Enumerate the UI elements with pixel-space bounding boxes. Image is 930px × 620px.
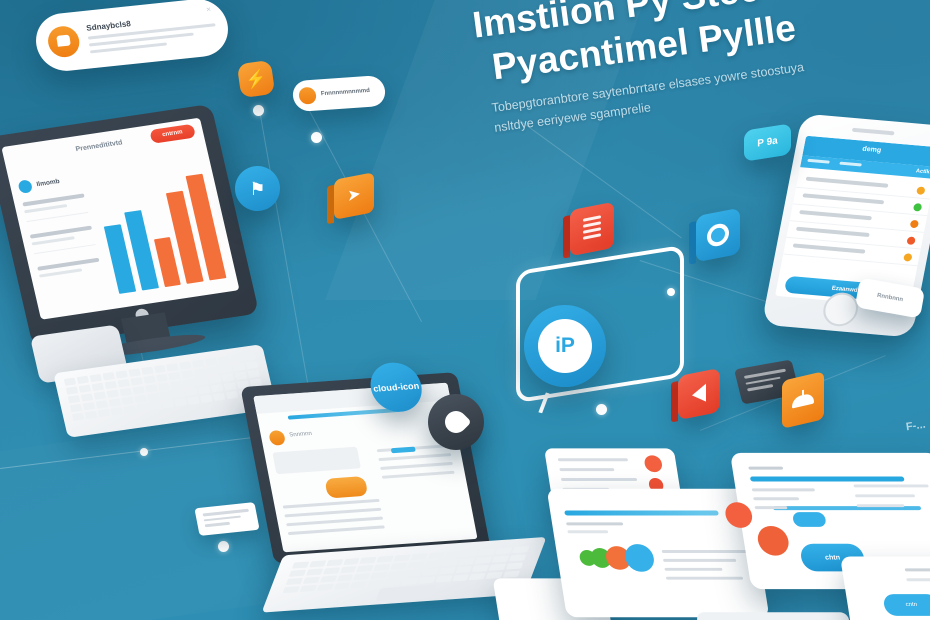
key[interactable] [303, 577, 320, 584]
key[interactable] [85, 411, 97, 419]
text-line [748, 467, 783, 470]
key[interactable] [158, 382, 170, 390]
key[interactable] [478, 548, 495, 555]
list-item-label [806, 177, 889, 188]
chat-icon [46, 25, 82, 59]
dashboard-list [22, 193, 104, 290]
cloud-icon-label: cloud-icon [372, 381, 420, 394]
key[interactable] [374, 564, 391, 571]
key[interactable] [194, 368, 206, 376]
edge-label: F-... [906, 419, 927, 434]
text-lines [752, 488, 819, 515]
content-block [272, 447, 361, 474]
key[interactable] [418, 577, 435, 584]
key[interactable] [136, 404, 148, 412]
key[interactable] [384, 579, 401, 586]
key[interactable] [286, 578, 303, 585]
key[interactable] [509, 554, 526, 561]
list-item-label [793, 243, 865, 253]
key[interactable] [469, 573, 486, 580]
key[interactable] [185, 388, 197, 396]
accent-bar [750, 477, 905, 482]
key[interactable] [66, 386, 78, 394]
list-item[interactable] [37, 258, 101, 278]
key[interactable] [119, 388, 131, 396]
key[interactable] [340, 566, 357, 573]
key[interactable] [160, 391, 172, 399]
key[interactable] [495, 547, 512, 554]
key[interactable] [89, 374, 101, 382]
key[interactable] [404, 570, 421, 577]
toggle-pill[interactable] [792, 512, 827, 527]
notification-chip-label: Fnnnnnmnnmmd [321, 88, 371, 97]
key[interactable] [289, 570, 306, 577]
key[interactable] [145, 384, 157, 392]
key[interactable] [106, 390, 118, 398]
key[interactable] [441, 559, 458, 566]
text-line [566, 522, 623, 525]
key[interactable] [244, 352, 256, 360]
avatar [17, 179, 33, 194]
key[interactable] [117, 379, 129, 387]
status-dot [910, 220, 920, 229]
flag-icon[interactable]: ⚑ [235, 166, 280, 211]
key[interactable] [102, 372, 114, 380]
network-node [311, 132, 322, 143]
key[interactable] [96, 400, 108, 408]
coins-icon [324, 476, 368, 498]
key[interactable] [407, 561, 424, 568]
ip-badge[interactable]: iP [524, 305, 606, 387]
key[interactable] [64, 378, 76, 386]
status-dot [906, 236, 916, 245]
key[interactable] [387, 571, 404, 578]
key[interactable] [173, 389, 185, 397]
key[interactable] [475, 557, 492, 564]
key[interactable] [200, 395, 212, 403]
send-icon[interactable]: ➤ [334, 172, 374, 220]
status-dot [903, 253, 913, 262]
list-item[interactable] [22, 193, 88, 222]
key[interactable] [320, 575, 337, 582]
key[interactable] [246, 361, 258, 369]
key[interactable] [233, 363, 245, 371]
list-item-label [799, 210, 871, 220]
status-dot [756, 526, 791, 556]
key[interactable] [427, 552, 444, 559]
key[interactable] [337, 574, 354, 581]
key[interactable] [79, 385, 91, 393]
key[interactable] [503, 571, 520, 578]
key[interactable] [91, 383, 103, 391]
key[interactable] [175, 398, 187, 406]
key[interactable] [424, 560, 441, 567]
bolt-icon [298, 87, 317, 105]
lamp-icon[interactable] [782, 371, 824, 429]
text-line [906, 578, 930, 581]
key[interactable] [226, 391, 238, 399]
key[interactable] [205, 358, 217, 366]
illustration-canvas: Imstiion Py Stee Pyacntimel Pyllle Tobep… [0, 0, 930, 620]
text-lines [853, 484, 930, 514]
key[interactable] [110, 407, 122, 415]
key[interactable] [77, 376, 89, 384]
key[interactable] [181, 370, 193, 378]
key[interactable] [198, 386, 210, 394]
list-icon[interactable] [570, 202, 614, 257]
status-dot [623, 544, 656, 572]
key[interactable] [343, 558, 360, 565]
key[interactable] [461, 550, 478, 557]
notification-chip[interactable]: Fnnnnnmnnmmd [291, 75, 387, 112]
key[interactable] [130, 377, 142, 385]
monitor-screen: Prennedititvtd cntrnm Ilmomb [1, 118, 239, 320]
notification-card[interactable]: Sdnaybcls8 × [32, 0, 232, 74]
key[interactable] [167, 363, 179, 371]
key[interactable] [93, 391, 105, 399]
cyan-chip[interactable]: P 9a [744, 123, 791, 161]
network-node [140, 448, 148, 456]
dashboard-user-label: Ilmomb [36, 178, 61, 188]
desktop-monitor: Prennedititvtd cntrnm Ilmomb [0, 104, 259, 347]
text-line [905, 568, 930, 571]
key[interactable] [211, 384, 223, 392]
status-dot-group [578, 544, 651, 572]
key[interactable] [489, 564, 506, 571]
subheader-right-label: Actlk [915, 168, 930, 175]
status-dot [913, 203, 923, 212]
laptop-label: Snnmnn [289, 431, 313, 438]
key[interactable] [438, 567, 455, 574]
key[interactable] [231, 354, 243, 362]
key[interactable] [81, 393, 93, 401]
key[interactable] [108, 398, 120, 406]
key[interactable] [213, 393, 225, 401]
key[interactable] [179, 361, 191, 369]
key[interactable] [183, 379, 195, 387]
key[interactable] [156, 374, 168, 382]
key[interactable] [162, 400, 174, 408]
key[interactable] [411, 553, 428, 560]
key[interactable] [196, 377, 208, 385]
key[interactable] [353, 573, 370, 580]
key[interactable] [207, 366, 219, 374]
close-icon[interactable]: × [206, 5, 212, 14]
network-node [596, 404, 607, 415]
key[interactable] [421, 568, 438, 575]
iso-card-far[interactable]: cntn [840, 557, 930, 620]
dashboard-cta-button[interactable]: cntrnm [149, 124, 196, 144]
bar-3 [154, 237, 182, 287]
key[interactable] [72, 413, 84, 421]
list-item-label [796, 227, 869, 237]
key[interactable] [455, 566, 472, 573]
key[interactable] [326, 559, 343, 566]
key[interactable] [134, 395, 146, 403]
key[interactable] [128, 369, 140, 377]
key[interactable] [141, 367, 153, 375]
key[interactable] [83, 402, 95, 410]
key[interactable] [121, 397, 133, 405]
key[interactable] [333, 582, 350, 589]
list-item-label [802, 193, 883, 203]
key[interactable] [401, 578, 418, 585]
text-line [567, 530, 608, 533]
key[interactable] [220, 365, 232, 373]
status-dot [643, 455, 663, 472]
key[interactable] [188, 396, 200, 404]
key[interactable] [452, 574, 469, 581]
trackpad[interactable] [375, 584, 436, 601]
accent-bar [564, 511, 719, 516]
key[interactable] [149, 402, 161, 410]
text-lines [662, 550, 753, 586]
key[interactable] [506, 562, 523, 569]
key[interactable] [350, 581, 367, 588]
key[interactable] [394, 554, 411, 561]
play-icon[interactable] [678, 368, 720, 420]
key[interactable] [316, 584, 333, 591]
key[interactable] [68, 395, 80, 403]
bolt-icon[interactable]: ⚡ [237, 60, 275, 98]
key[interactable] [283, 586, 300, 593]
key[interactable] [98, 409, 110, 417]
user-icon [268, 430, 286, 446]
key[interactable] [132, 386, 144, 394]
key[interactable] [209, 375, 221, 383]
droplet-icon[interactable] [696, 208, 740, 263]
key[interactable] [169, 372, 181, 380]
key[interactable] [192, 359, 204, 367]
dashboard-title: Prennedititvtd [75, 139, 123, 153]
text-lines [283, 499, 386, 541]
key[interactable] [235, 372, 247, 380]
network-node [218, 541, 229, 552]
key[interactable] [435, 575, 452, 582]
key[interactable] [370, 572, 387, 579]
key[interactable] [218, 356, 230, 364]
notification-title: Sdnaybcls8 [86, 19, 132, 33]
key[interactable] [115, 370, 127, 378]
key[interactable] [492, 555, 509, 562]
app-list [780, 171, 930, 284]
key[interactable] [377, 556, 394, 563]
key[interactable] [147, 393, 159, 401]
key[interactable] [248, 370, 260, 378]
key[interactable] [390, 563, 407, 570]
key[interactable] [367, 580, 384, 587]
card-cta-button[interactable]: cntn [882, 594, 930, 616]
key[interactable] [300, 585, 317, 592]
key[interactable] [323, 567, 340, 574]
key[interactable] [357, 565, 374, 572]
key[interactable] [222, 373, 234, 381]
list-item[interactable] [30, 226, 96, 255]
key[interactable] [306, 568, 323, 575]
key[interactable] [458, 558, 475, 565]
key[interactable] [224, 382, 236, 390]
key[interactable] [472, 565, 489, 572]
key[interactable] [309, 560, 326, 567]
app-title: demg [862, 146, 882, 155]
key[interactable] [292, 561, 309, 568]
status-dot [916, 186, 926, 195]
bar-chart [94, 170, 226, 294]
key[interactable] [154, 365, 166, 373]
ip-badge-label: iP [538, 319, 592, 373]
navigation-icon[interactable] [428, 394, 484, 450]
key[interactable] [444, 551, 461, 558]
network-node [253, 105, 264, 116]
key[interactable] [512, 546, 529, 553]
iso-card-edge [696, 612, 854, 620]
key[interactable] [123, 405, 135, 413]
key[interactable] [143, 375, 155, 383]
key[interactable] [171, 381, 183, 389]
key[interactable] [360, 557, 377, 564]
key[interactable] [70, 404, 82, 412]
key[interactable] [104, 381, 116, 389]
text-lines [377, 444, 456, 484]
bg-connector-line [259, 110, 312, 406]
